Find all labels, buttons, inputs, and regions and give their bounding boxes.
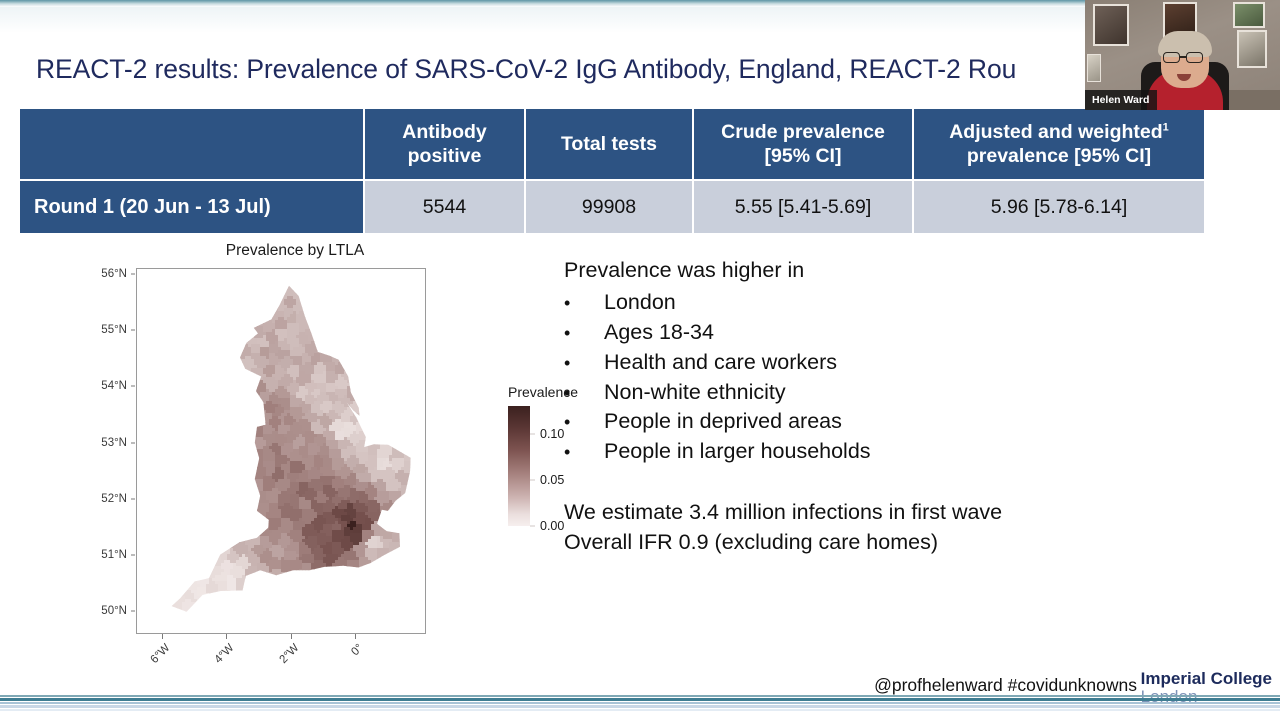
table-header-row: Antibodypositive Total tests Crude preva… <box>20 109 1204 179</box>
findings-closing-block: We estimate 3.4 million infections in fi… <box>564 498 1164 557</box>
y-axis-tick-mark <box>131 555 135 556</box>
table-header-cell-total-tests: Total tests <box>526 109 692 179</box>
findings-lead: Prevalence was higher in <box>564 256 1164 286</box>
value-crude-prevalence: 5.55 [5.41-5.69] <box>735 196 872 219</box>
bullet-dot-icon: • <box>564 440 604 465</box>
list-item: •London <box>564 288 1164 318</box>
ltla-regions-group <box>137 269 425 633</box>
glasses-icon <box>1163 52 1180 63</box>
table-header-cell-adjusted-prevalence: Adjusted and weighted1prevalence [95% CI… <box>914 109 1204 179</box>
list-item-label: People in larger households <box>604 437 871 467</box>
map-plot-panel <box>136 268 426 634</box>
closing-line: We estimate 3.4 million infections in fi… <box>564 498 1164 528</box>
wall-poster-icon <box>1087 54 1101 82</box>
list-item-label: Ages 18-34 <box>604 318 714 348</box>
y-axis-tick-label: 54°N <box>101 380 127 392</box>
closing-line: Overall IFR 0.9 (excluding care homes) <box>564 528 1164 558</box>
legend-tick-mark <box>530 479 535 480</box>
legend-tick-label: 0.00 <box>540 519 564 533</box>
table-header-label-crude-prevalence: Crude prevalence[95% CI] <box>721 120 885 168</box>
list-item-label: People in deprived areas <box>604 407 842 437</box>
bullet-dot-icon: • <box>564 410 604 435</box>
wall-poster-icon <box>1093 4 1129 46</box>
table-cell-crude-prevalence: 5.55 [5.41-5.69] <box>694 181 912 233</box>
y-axis-tick-mark <box>131 611 135 612</box>
table-header-cell-crude-prevalence: Crude prevalence[95% CI] <box>694 109 912 179</box>
y-axis-tick-label: 52°N <box>101 493 127 505</box>
x-axis-tick-mark <box>355 634 356 639</box>
x-axis-tick-mark <box>226 634 227 639</box>
y-axis-tick-label: 53°N <box>101 437 127 449</box>
bottom-decorative-rules <box>0 690 1280 720</box>
x-axis-tick-label: 6°W <box>148 642 172 666</box>
legend-tick-mark <box>530 526 535 527</box>
legend-tick-label: 0.05 <box>540 473 564 487</box>
page-title: REACT-2 results: Prevalence of SARS-CoV-… <box>36 54 1186 85</box>
table-header-cell-antibody-positive: Antibodypositive <box>365 109 524 179</box>
footnote-marker: 1 <box>1163 121 1169 133</box>
table-cell-adjusted-prevalence: 5.96 [5.78-6.14] <box>914 181 1204 233</box>
wall-poster-icon <box>1233 2 1265 28</box>
list-item: •Non-white ethnicity <box>564 378 1164 408</box>
list-item-label: London <box>604 288 676 318</box>
y-axis-tick-label: 50°N <box>101 605 127 617</box>
bullet-dot-icon: • <box>564 381 604 406</box>
table-header-label-total-tests: Total tests <box>561 132 657 156</box>
prevalence-map-figure: Prevalence by LTLA Prevalence 0.100.050.… <box>70 242 540 654</box>
findings-text-block: Prevalence was higher in •London•Ages 18… <box>564 256 1164 557</box>
chart-title: Prevalence by LTLA <box>130 242 460 260</box>
results-table: Antibodypositive Total tests Crude preva… <box>18 107 1206 235</box>
table-cell-round-label: Round 1 (20 Jun - 13 Jul) <box>20 181 363 233</box>
table-cell-antibody-positive: 5544 <box>365 181 524 233</box>
round-label: Round 1 (20 Jun - 13 Jul) <box>34 196 271 219</box>
value-adjusted-prevalence: 5.96 [5.78-6.14] <box>991 196 1128 219</box>
logo-line-1: Imperial College <box>1141 670 1272 688</box>
x-axis-tick-mark <box>291 634 292 639</box>
table-header-label-antibody-positive: Antibodypositive <box>402 120 486 168</box>
table-header-cell-blank <box>20 109 363 179</box>
y-axis-tick-mark <box>131 442 135 443</box>
x-axis-tick-mark <box>162 634 163 639</box>
y-axis-tick-label: 56°N <box>101 268 127 280</box>
findings-bullet-list: •London•Ages 18-34•Health and care worke… <box>564 288 1164 467</box>
legend-tick-label: 0.10 <box>540 427 564 441</box>
presentation-slide: REACT-2 results: Prevalence of SARS-CoV-… <box>0 0 1280 720</box>
bullet-dot-icon: • <box>564 291 604 316</box>
bullet-dot-icon: • <box>564 351 604 376</box>
england-choropleth-svg <box>137 269 425 633</box>
wall-poster-icon <box>1237 30 1267 68</box>
legend-tick-mark <box>530 433 535 434</box>
table-header-label-adjusted-prevalence: Adjusted and weighted1prevalence [95% CI… <box>949 120 1169 168</box>
table-cell-total-tests: 99908 <box>526 181 692 233</box>
list-item-label: Health and care workers <box>604 348 837 378</box>
speaker-name-label: Helen Ward <box>1085 90 1157 110</box>
x-axis-tick-label: 4°W <box>213 642 237 666</box>
y-axis-tick-mark <box>131 498 135 499</box>
list-item: •People in larger households <box>564 437 1164 467</box>
bullet-dot-icon: • <box>564 321 604 346</box>
x-axis-tick-label: 2°W <box>277 642 301 666</box>
value-total-tests: 99908 <box>582 196 636 219</box>
webcam-video-overlay[interactable]: Helen Ward <box>1085 0 1280 110</box>
table-row: Round 1 (20 Jun - 13 Jul) 5544 99908 5.5… <box>20 181 1204 233</box>
y-axis-tick-label: 51°N <box>101 549 127 561</box>
glasses-icon <box>1186 52 1203 63</box>
y-axis-tick-mark <box>131 386 135 387</box>
list-item: •People in deprived areas <box>564 407 1164 437</box>
y-axis-tick-mark <box>131 273 135 274</box>
x-axis-tick-label: 0° <box>349 642 365 658</box>
y-axis-tick-mark <box>131 329 135 330</box>
y-axis-tick-label: 55°N <box>101 324 127 336</box>
list-item: •Health and care workers <box>564 348 1164 378</box>
list-item-label: Non-white ethnicity <box>604 378 786 408</box>
glasses-bridge-icon <box>1180 56 1187 58</box>
list-item: •Ages 18-34 <box>564 318 1164 348</box>
legend-color-gradient <box>508 406 530 526</box>
value-antibody-positive: 5544 <box>423 196 466 219</box>
